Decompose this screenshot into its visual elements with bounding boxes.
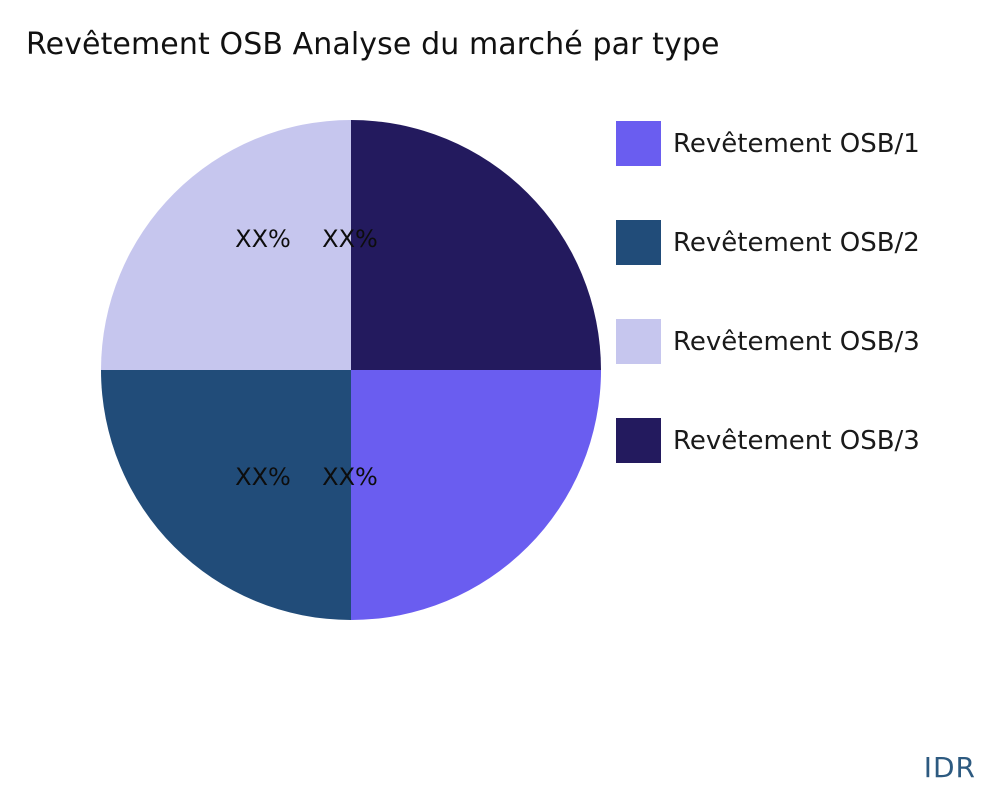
- legend-item-osb-1[interactable]: Revêtement OSB/1: [616, 121, 986, 166]
- legend-label-osb-2: Revêtement OSB/2: [673, 228, 920, 258]
- chart-title: Revêtement OSB Analyse du marché par typ…: [26, 26, 926, 64]
- legend-label-osb-1: Revêtement OSB/1: [673, 129, 920, 159]
- legend-swatch-osb-1: [616, 121, 661, 166]
- pie-slice-bottom-right[interactable]: [351, 370, 601, 620]
- pie-slice-label-bottom-left: XX%: [235, 463, 291, 491]
- legend-swatch-osb-2: [616, 220, 661, 265]
- idr-watermark: IDR: [924, 752, 976, 784]
- legend-item-osb-2[interactable]: Revêtement OSB/2: [616, 220, 986, 265]
- pie-slice-top-right[interactable]: [351, 120, 601, 370]
- pie-slice-label-top-right: XX%: [322, 225, 378, 253]
- legend-item-osb-4[interactable]: Revêtement OSB/3: [616, 418, 986, 463]
- legend-swatch-osb-4: [616, 418, 661, 463]
- pie-slice-top-left[interactable]: [101, 120, 351, 370]
- pie-slice-label-bottom-right: XX%: [322, 463, 378, 491]
- chart-legend: Revêtement OSB/1 Revêtement OSB/2 Revête…: [616, 121, 986, 463]
- legend-label-osb-3: Revêtement OSB/3: [673, 327, 920, 357]
- pie-svg: XX% XX% XX% XX%: [101, 120, 601, 620]
- legend-swatch-osb-3: [616, 319, 661, 364]
- pie-slice-label-top-left: XX%: [235, 225, 291, 253]
- legend-item-osb-3[interactable]: Revêtement OSB/3: [616, 319, 986, 364]
- pie-plot-area: XX% XX% XX% XX%: [101, 120, 601, 620]
- legend-label-osb-4: Revêtement OSB/3: [673, 426, 920, 456]
- pie-slice-bottom-left[interactable]: [101, 370, 351, 620]
- pie-chart-figure: Revêtement OSB Analyse du marché par typ…: [0, 0, 1000, 800]
